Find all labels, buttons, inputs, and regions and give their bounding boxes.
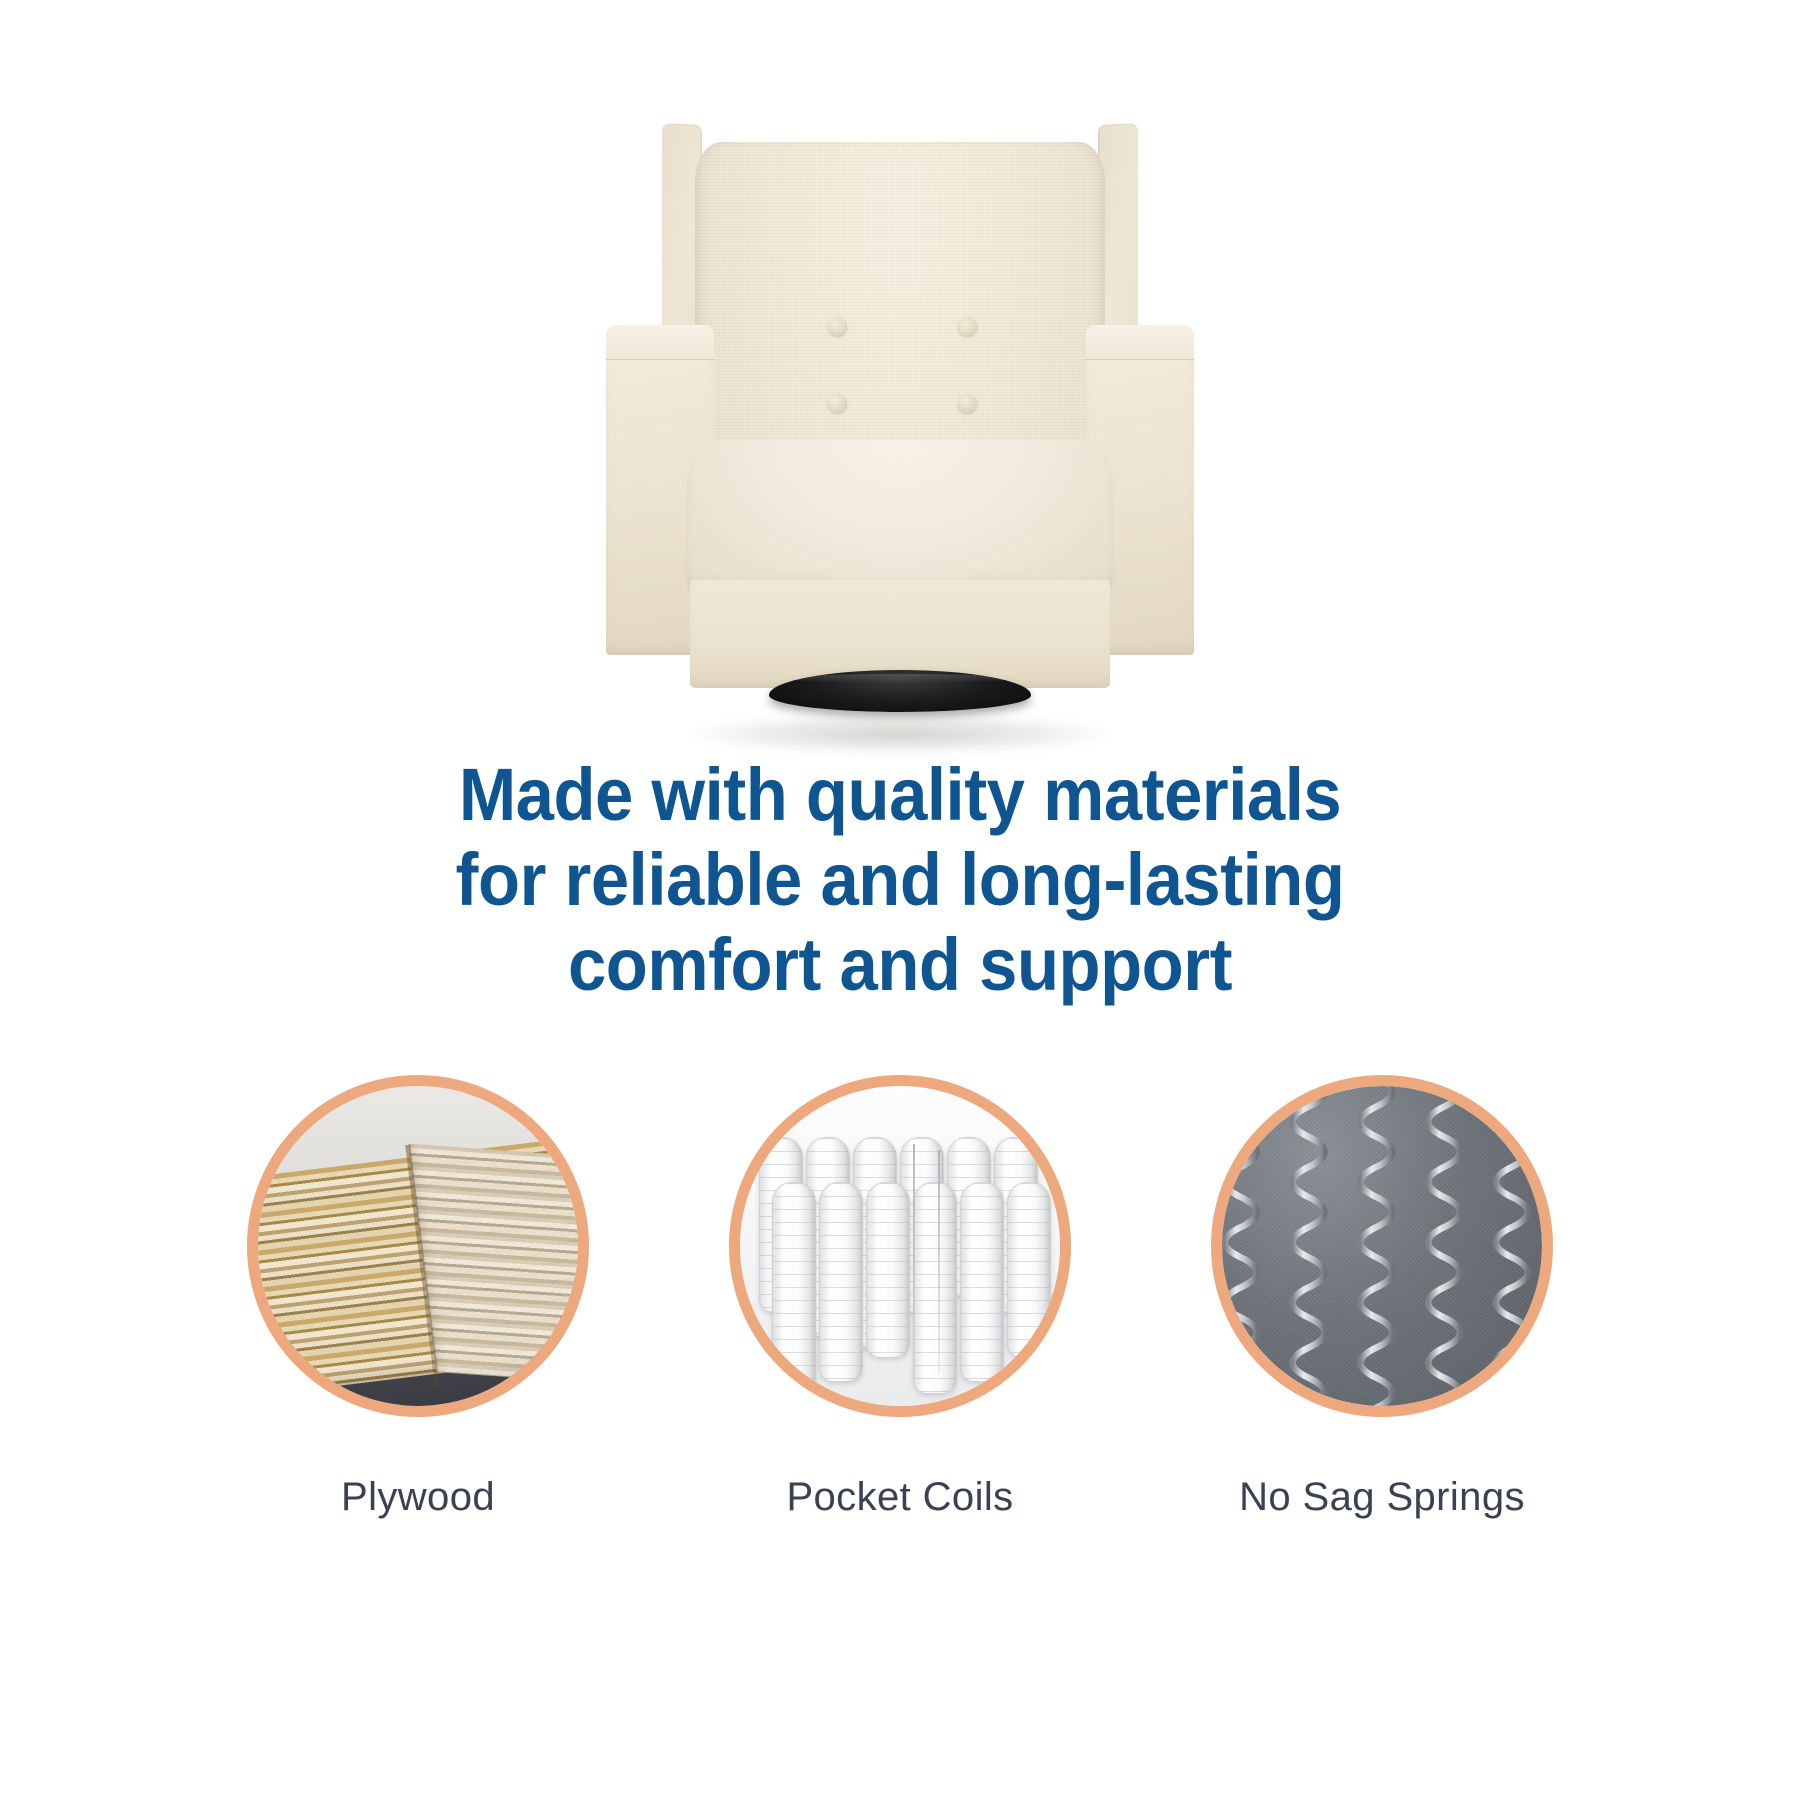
headline: Made with quality materials for reliable…: [63, 752, 1737, 1007]
no-sag-springs-photo: [1222, 1086, 1542, 1406]
chair-drop-shadow: [690, 714, 1110, 754]
pocket-coil: [772, 1182, 816, 1394]
feature-caption-plywood: Plywood: [341, 1475, 495, 1520]
pocket-coil: [819, 1182, 863, 1382]
feature-pocket-coils: Pocket Coils: [724, 1075, 1076, 1520]
chair-swivel-base: [769, 670, 1031, 712]
chair-tuft-button: [958, 317, 977, 336]
feature-caption-pocket-coils: Pocket Coils: [786, 1475, 1013, 1520]
headline-line-3: comfort and support: [63, 922, 1737, 1007]
chair-tuft-button: [828, 394, 847, 413]
feature-image-ring-no-sag-springs: [1211, 1075, 1553, 1417]
pocket-coil: [913, 1182, 957, 1394]
chair-tuft-button: [828, 317, 847, 336]
no-sag-springs-wires: [1222, 1086, 1542, 1406]
feature-caption-no-sag-springs: No Sag Springs: [1239, 1475, 1525, 1520]
feature-plywood: Plywood: [242, 1075, 594, 1520]
pocket-coil: [1007, 1182, 1051, 1358]
chair-tuft-button: [958, 394, 977, 413]
feature-no-sag-springs: No Sag Springs: [1206, 1075, 1558, 1520]
feature-row: Plywood: [0, 1075, 1800, 1520]
pocket-coils-photo: [740, 1086, 1060, 1406]
feature-image-ring-pocket-coils: [729, 1075, 1071, 1417]
hero-product-section: [0, 0, 1800, 790]
chair-seat-cushion: [688, 440, 1112, 590]
headline-line-1: Made with quality materials: [63, 752, 1737, 837]
pocket-coil: [866, 1182, 910, 1358]
plywood-photo: [258, 1086, 578, 1406]
product-image-chair: [590, 70, 1210, 760]
headline-line-2: for reliable and long-lasting: [63, 837, 1737, 922]
pocket-coil-thread: [913, 1144, 915, 1381]
pocket-coil-thread: [938, 1150, 940, 1374]
pocket-coil: [960, 1182, 1004, 1382]
pocket-coil-row: [772, 1182, 1051, 1394]
feature-image-ring-plywood: [247, 1075, 589, 1417]
